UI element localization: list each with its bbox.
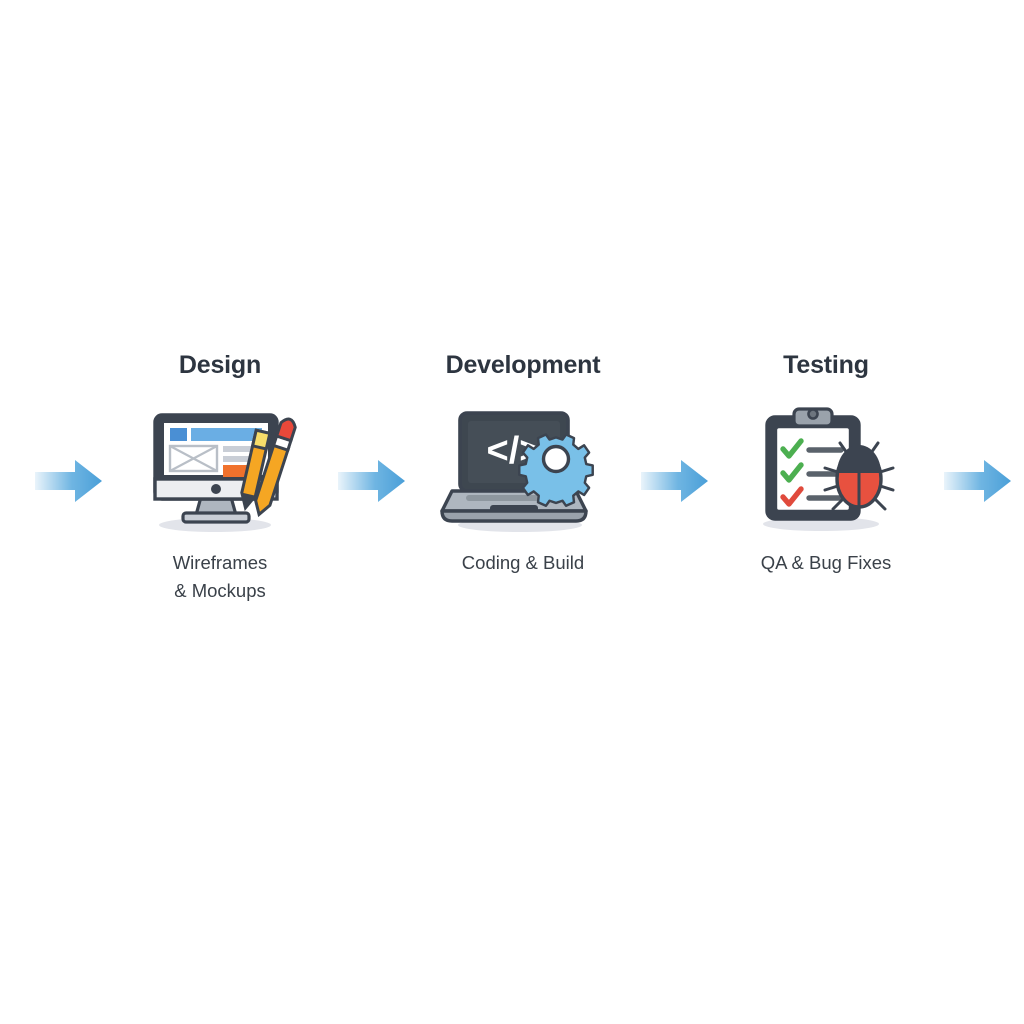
arrow-design-development xyxy=(333,350,410,630)
arrow-discovery-design xyxy=(30,350,107,630)
monitor-wireframe-pencil-brush-icon xyxy=(140,403,300,533)
stage-title: Testing xyxy=(783,350,869,380)
stage-title: Development xyxy=(446,350,601,380)
stage-discovery[interactable]: Discovery xyxy=(0,350,30,605)
stage-caption: QA & Bug Fixes xyxy=(761,549,892,577)
clipboard-checklist-bug-icon xyxy=(746,403,906,533)
arrow-development-testing xyxy=(636,350,713,630)
stage-development[interactable]: Development </> xyxy=(410,350,636,577)
stage-caption: Coding & Build xyxy=(462,549,584,577)
arrow-testing-launch xyxy=(939,350,1016,630)
diagram-canvas: Discovery xyxy=(0,0,1024,1024)
laptop-code-gear-icon: </> xyxy=(443,403,603,533)
process-flow-row: Discovery xyxy=(0,350,1024,630)
stage-testing[interactable]: Testing xyxy=(713,350,939,577)
stage-design[interactable]: Design xyxy=(107,350,333,605)
stage-caption: Wireframes & Mockups xyxy=(173,549,268,605)
stage-launch[interactable]: Launch xyxy=(1016,350,1024,577)
stage-title: Design xyxy=(179,350,261,380)
